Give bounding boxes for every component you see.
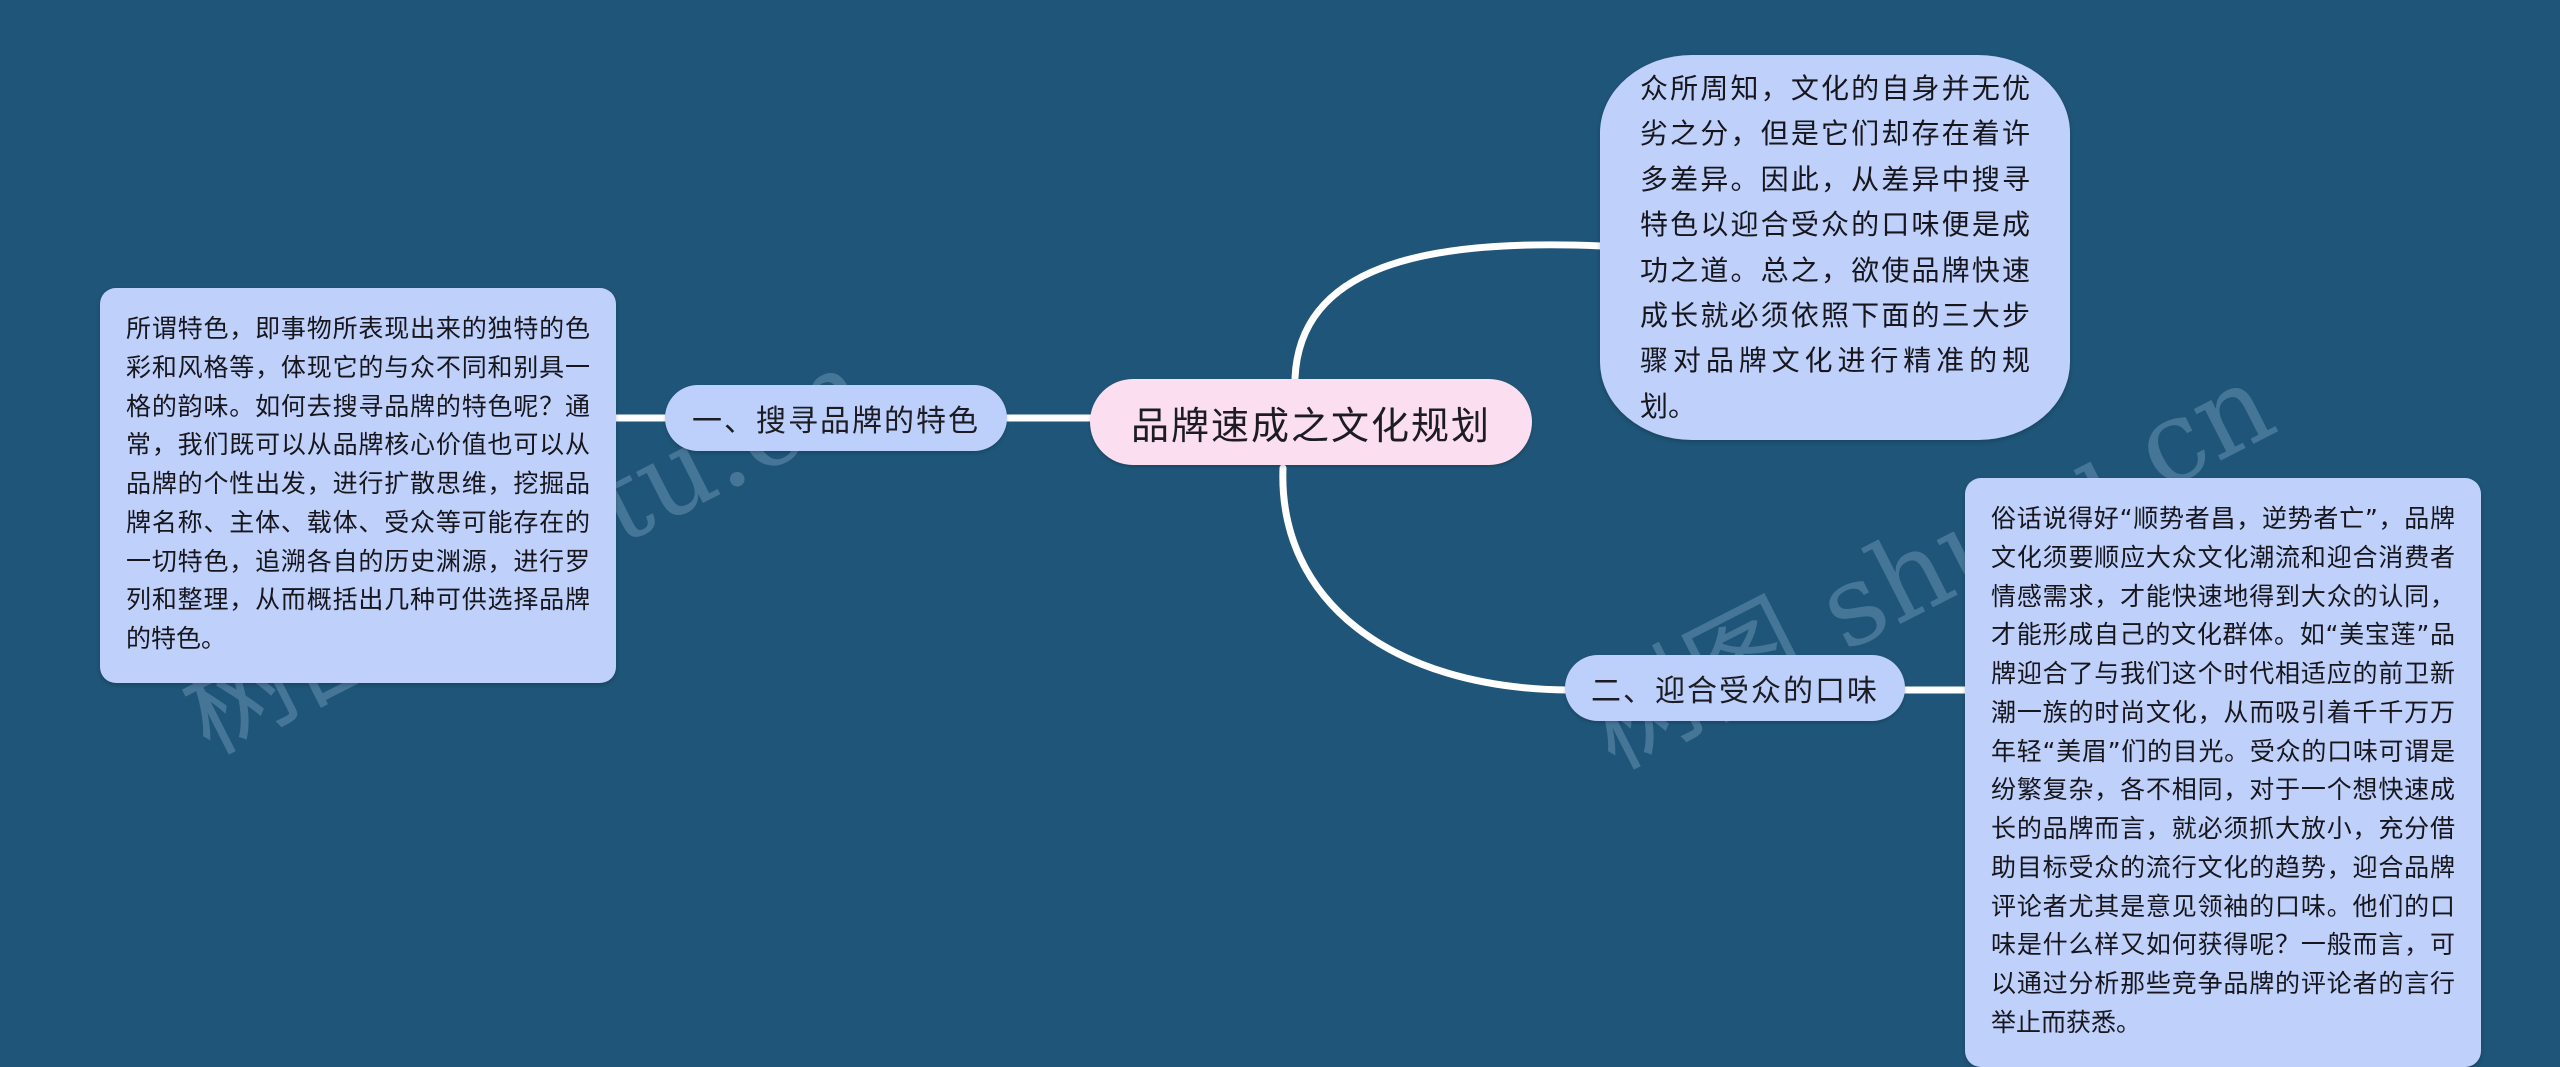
- detail-box-branch-1[interactable]: 所谓特色，即事物所表现出来的独特的色彩和风格等，体现它的与众不同和别具一格的韵味…: [100, 288, 616, 683]
- mindmap-canvas: 树图 shutu.cn 树图 shutu.cn 所谓特色，即事物所表现出来的独特…: [0, 0, 2560, 1002]
- edge-root-to-intro: [1295, 245, 1602, 378]
- edge-root-to-branch2: [1283, 468, 1567, 690]
- intro-node[interactable]: 众所周知，文化的自身并无优劣之分，但是它们却存在着许多差异。因此，从差异中搜寻特…: [1600, 55, 2070, 440]
- detail-box-branch-2[interactable]: 俗话说得好“顺势者昌，逆势者亡”，品牌文化须要顺应大众文化潮流和迎合消费者情感需…: [1965, 478, 2481, 1067]
- branch-node-2[interactable]: 二、迎合受众的口味: [1565, 655, 1905, 721]
- root-node[interactable]: 品牌速成之文化规划: [1090, 379, 1532, 465]
- branch-node-1[interactable]: 一、搜寻品牌的特色: [665, 385, 1007, 451]
- intro-node-text: 众所周知，文化的自身并无优劣之分，但是它们却存在着许多差异。因此，从差异中搜寻特…: [1640, 66, 2030, 429]
